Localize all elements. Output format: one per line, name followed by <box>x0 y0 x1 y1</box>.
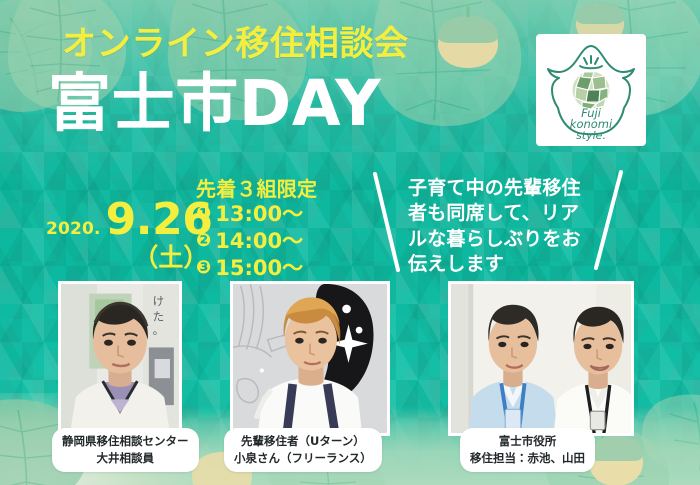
fuji-konomi-style-logo: Fuji konomi style. <box>536 34 646 146</box>
schedule-slot-3: ❸ 15:00～ <box>196 255 317 282</box>
event-headline: 富士市DAY <box>48 72 381 135</box>
svg-text:た: た <box>153 310 165 324</box>
caption-advisor-oi: 静岡県移住相談センター 大井相談員 <box>52 428 199 472</box>
schedule-slot-1: ❶ 13:00～ <box>196 201 317 228</box>
caption-city-hall-staff: 富士市役所 移住担当：赤池、山田 <box>460 428 595 472</box>
slot-time-1: 13:00～ <box>215 201 303 228</box>
poster-root: オンライン移住相談会 富士市DAY <box>0 0 700 485</box>
photo-migrant-koizumi <box>230 281 390 436</box>
caption-2-line-1: 先輩移住者（Uターン） <box>234 433 372 450</box>
schedule-block: 先着３組限定 ❶ 13:00～ ❷ 14:00～ ❸ 15:00～ <box>196 178 317 282</box>
slot-time-3: 15:00～ <box>215 255 303 282</box>
caption-2-line-2: 小泉さん（フリーランス） <box>234 450 372 467</box>
event-note: 子育て中の先輩移住者も同席して、リアルな暮らしぶりをお伝えします <box>408 176 590 277</box>
caption-3-line-2: 移住担当：赤池、山田 <box>470 450 585 467</box>
schedule-slot-2: ❷ 14:00～ <box>196 228 317 255</box>
logo-mark: Fuji konomi style. <box>542 38 640 142</box>
schedule-title: 先着３組限定 <box>196 178 317 201</box>
event-date: 2020. 9.26 （土） <box>46 198 212 272</box>
date-year: 2020. <box>46 221 101 238</box>
svg-text:。: 。 <box>153 323 165 337</box>
event-kicker: オンライン移住相談会 <box>62 27 409 61</box>
slot-time-2: 14:00～ <box>215 228 303 255</box>
slot-marker-3: ❸ <box>196 259 211 277</box>
caption-1-line-2: 大井相談員 <box>62 450 189 467</box>
caption-1-line-1: 静岡県移住相談センター <box>62 433 189 450</box>
caption-migrant-koizumi: 先輩移住者（Uターン） 小泉さん（フリーランス） <box>224 428 382 472</box>
slot-marker-2: ❷ <box>196 232 211 250</box>
svg-text:け: け <box>153 294 165 308</box>
slot-marker-1: ❶ <box>196 205 211 223</box>
caption-3-line-1: 富士市役所 <box>470 433 585 450</box>
photo-advisor-oi: け た 。 <box>58 281 182 436</box>
photo-city-hall-staff <box>448 281 634 436</box>
date-day-of-week: （土） <box>46 244 212 272</box>
logo-line-3: style. <box>576 129 606 142</box>
logo-mosaic <box>572 71 610 109</box>
